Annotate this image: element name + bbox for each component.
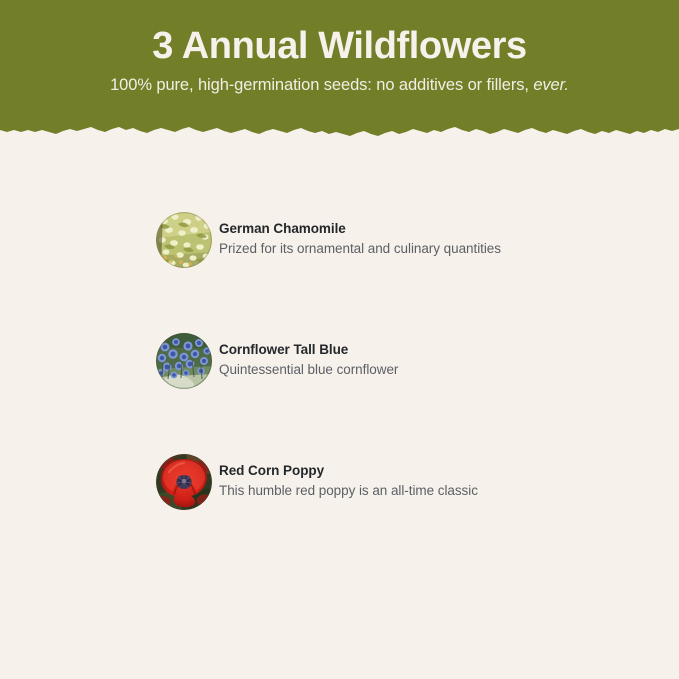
banner-content: 3 Annual Wildflowers 100% pure, high-ger… [0,0,679,97]
cornflower-photo-thumbnail [156,333,212,389]
list-item-text: Red Corn Poppy This humble red poppy is … [219,461,649,500]
list-item-description: Prized for its ornamental and culinary q… [219,239,649,258]
subtitle-lead-text: 100% pure, high-germination seeds: no ad… [110,76,533,94]
header-banner: 3 Annual Wildflowers 100% pure, high-ger… [0,0,679,140]
list-item-title: Cornflower Tall Blue [219,340,649,359]
subtitle-emphasis-text: ever. [533,76,569,94]
list-item-description: Quintessential blue cornflower [219,360,649,379]
cornflower-thumbnail-image [156,333,212,389]
poppy-photo-thumbnail [156,454,212,510]
page-title: 3 Annual Wildflowers [0,22,679,70]
poppy-thumbnail-image [156,454,212,510]
list-item-text: Cornflower Tall Blue Quintessential blue… [219,340,649,379]
list-item-title: German Chamomile [219,219,649,238]
chamomile-thumbnail-image [156,212,212,268]
page-subtitle: 100% pure, high-germination seeds: no ad… [0,73,679,97]
list-item[interactable]: German Chamomile Prized for its ornament… [156,212,656,268]
list-item[interactable]: Cornflower Tall Blue Quintessential blue… [156,333,656,389]
flower-list: German Chamomile Prized for its ornament… [156,212,656,510]
list-item-title: Red Corn Poppy [219,461,649,480]
chamomile-photo-thumbnail [156,212,212,268]
list-item[interactable]: Red Corn Poppy This humble red poppy is … [156,454,656,510]
list-item-description: This humble red poppy is an all-time cla… [219,481,649,500]
list-item-text: German Chamomile Prized for its ornament… [219,219,649,258]
